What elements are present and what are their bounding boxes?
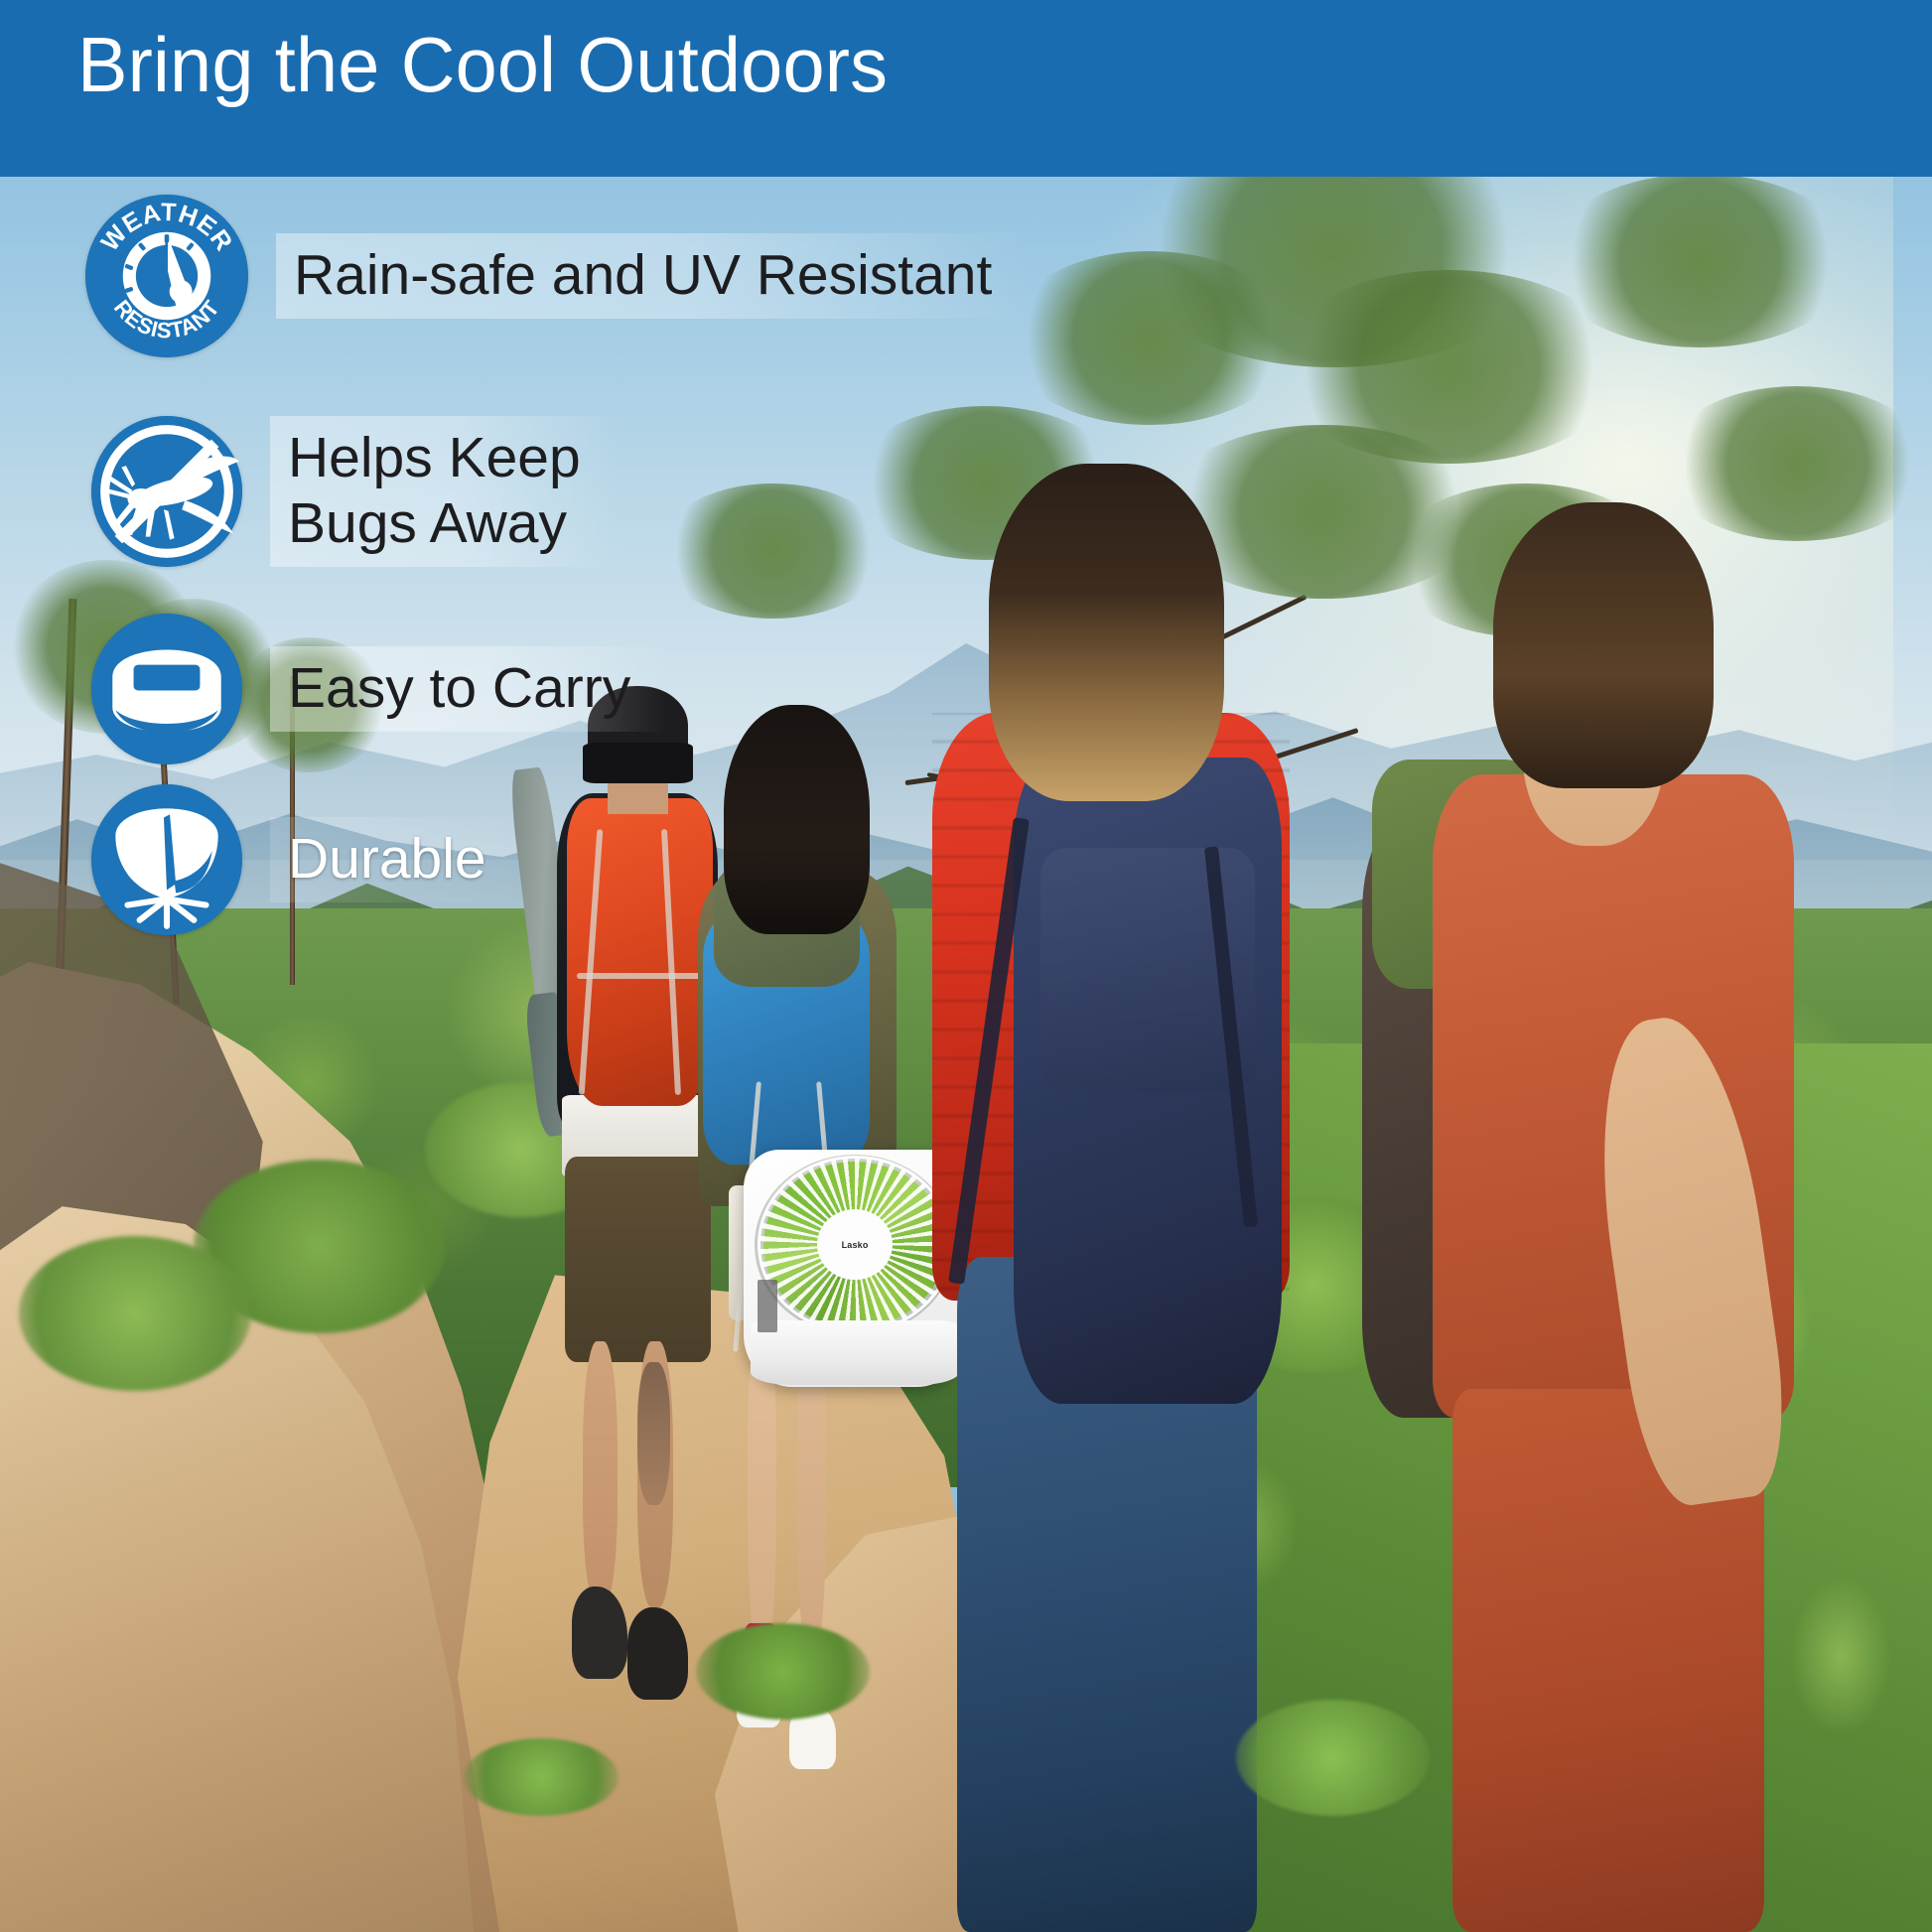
weather-resistant-seal-icon: WEATHER RESISTANT: [85, 195, 248, 357]
foreground-foliage: [1236, 1700, 1430, 1816]
fan-vent: [758, 1280, 777, 1332]
feature-label-bugs: Helps Keep Bugs Away: [270, 416, 617, 566]
feature-label-easy-carry: Easy to Carry: [270, 646, 666, 732]
feature-item-weather-resistant: WEATHER RESISTANT Rain-safe and UV Resis…: [85, 195, 1028, 357]
fan-brand-label: Lasko: [842, 1240, 869, 1250]
foreground-foliage: [696, 1623, 870, 1720]
feature-label-durable: Durable: [270, 817, 522, 902]
impact-shield-icon: [91, 784, 242, 935]
hiking-boot: [572, 1587, 627, 1679]
header-banner: Bring the Cool Outdoors: [0, 0, 1932, 177]
product-feature-image: Lasko: [0, 0, 1932, 1932]
tied-back-hair: [1493, 502, 1715, 788]
feature-item-durable: Durable: [91, 784, 522, 935]
pine-foliage: [1546, 174, 1855, 347]
leg-tattoo: [637, 1362, 670, 1505]
feature-item-easy-carry: Easy to Carry: [91, 614, 666, 764]
mans-left-leg: [583, 1341, 618, 1607]
carry-handle-icon: [91, 614, 242, 764]
foreground-foliage: [464, 1738, 619, 1816]
hiker-woman-far-right: [1352, 502, 1855, 1932]
feature-item-bugs: Helps Keep Bugs Away: [91, 416, 617, 567]
fan-hub: Lasko: [817, 1209, 893, 1281]
shrub: [19, 1236, 251, 1391]
page-title: Bring the Cool Outdoors: [77, 26, 888, 103]
no-bugs-mosquito-icon: [91, 416, 242, 567]
feature-label-weather-resistant: Rain-safe and UV Resistant: [276, 233, 1028, 319]
